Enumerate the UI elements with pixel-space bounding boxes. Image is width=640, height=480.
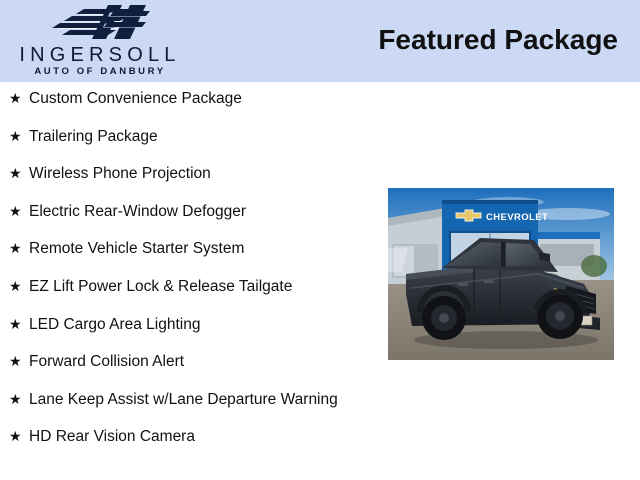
list-item: ★ Custom Convenience Package bbox=[0, 86, 380, 124]
list-item: ★ LED Cargo Area Lighting bbox=[0, 312, 380, 350]
svg-text:CHEVROLET: CHEVROLET bbox=[486, 212, 548, 223]
feature-label: EZ Lift Power Lock & Release Tailgate bbox=[29, 276, 380, 297]
list-item: ★ Wireless Phone Projection bbox=[0, 161, 380, 199]
list-item: ★ Remote Vehicle Starter System bbox=[0, 236, 380, 274]
brand-subtitle: AUTO OF DANBURY bbox=[0, 66, 200, 77]
star-icon: ★ bbox=[9, 276, 22, 297]
star-icon: ★ bbox=[9, 389, 22, 410]
list-item: ★ Trailering Package bbox=[0, 124, 380, 162]
star-icon: ★ bbox=[9, 88, 22, 109]
feature-label: Remote Vehicle Starter System bbox=[29, 238, 380, 259]
star-icon: ★ bbox=[9, 351, 22, 372]
ingersoll-wing-emblem-icon bbox=[50, 3, 162, 41]
page-title: Featured Package bbox=[378, 24, 618, 56]
star-icon: ★ bbox=[9, 426, 22, 447]
feature-label: Custom Convenience Package bbox=[29, 88, 380, 109]
feature-label: HD Rear Vision Camera bbox=[29, 426, 380, 447]
feature-label: Electric Rear-Window Defogger bbox=[29, 201, 380, 222]
brand-logo: INGERSOLL AUTO OF DANBURY bbox=[0, 0, 210, 82]
list-item: ★ Lane Keep Assist w/Lane Departure Warn… bbox=[0, 387, 380, 425]
pickup-truck-photo: CHEVROLET bbox=[388, 188, 614, 360]
star-icon: ★ bbox=[9, 314, 22, 335]
star-icon: ★ bbox=[9, 238, 22, 259]
list-item: ★ Electric Rear-Window Defogger bbox=[0, 199, 380, 237]
feature-label: Wireless Phone Projection bbox=[29, 163, 380, 184]
page-header: INGERSOLL AUTO OF DANBURY Featured Packa… bbox=[0, 0, 640, 82]
star-icon: ★ bbox=[9, 126, 22, 147]
feature-label: Trailering Package bbox=[29, 126, 380, 147]
list-item: ★ EZ Lift Power Lock & Release Tailgate bbox=[0, 274, 380, 312]
list-item: ★ Forward Collision Alert bbox=[0, 349, 380, 387]
feature-label: Lane Keep Assist w/Lane Departure Warnin… bbox=[29, 389, 380, 410]
star-icon: ★ bbox=[9, 201, 22, 222]
list-item: ★ HD Rear Vision Camera bbox=[0, 424, 380, 462]
feature-label: Forward Collision Alert bbox=[29, 351, 380, 372]
brand-name: INGERSOLL bbox=[0, 44, 200, 66]
feature-label: LED Cargo Area Lighting bbox=[29, 314, 380, 335]
star-icon: ★ bbox=[9, 163, 22, 184]
feature-list: ★ Custom Convenience Package ★ Trailerin… bbox=[0, 86, 380, 462]
